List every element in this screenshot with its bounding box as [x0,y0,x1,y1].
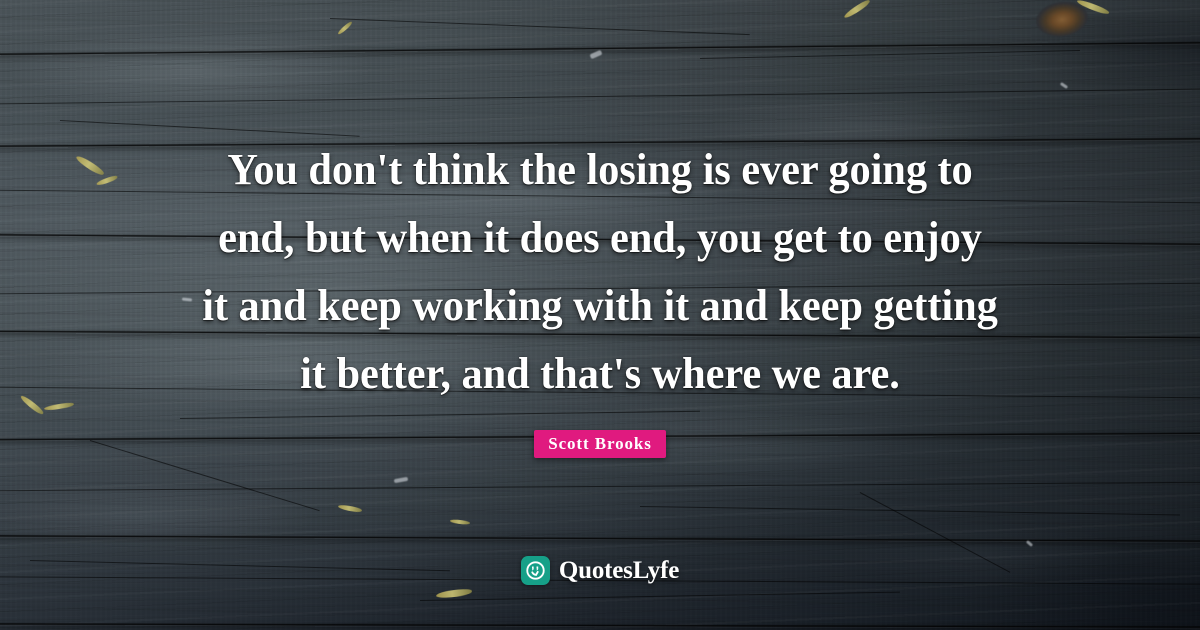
quote-line-2: end, but when it does end, you get to en… [175,204,1024,272]
quote-line-4: it better, and that's where we are. [175,340,1024,408]
quote-content: You don't think the losing is ever going… [0,0,1200,630]
quote-smiley-icon [521,556,550,585]
quote-line-1: You don't think the losing is ever going… [175,136,1024,204]
brand-name: QuotesLyfe [559,557,679,585]
quote-card: You don't think the losing is ever going… [0,0,1200,630]
author-badge[interactable]: Scott Brooks [534,430,666,458]
brand-logo[interactable]: QuotesLyfe [0,556,1200,585]
quote-text: You don't think the losing is ever going… [175,136,1024,408]
author-name: Scott Brooks [548,434,652,453]
quote-line-3: it and keep working with it and keep get… [175,272,1024,340]
